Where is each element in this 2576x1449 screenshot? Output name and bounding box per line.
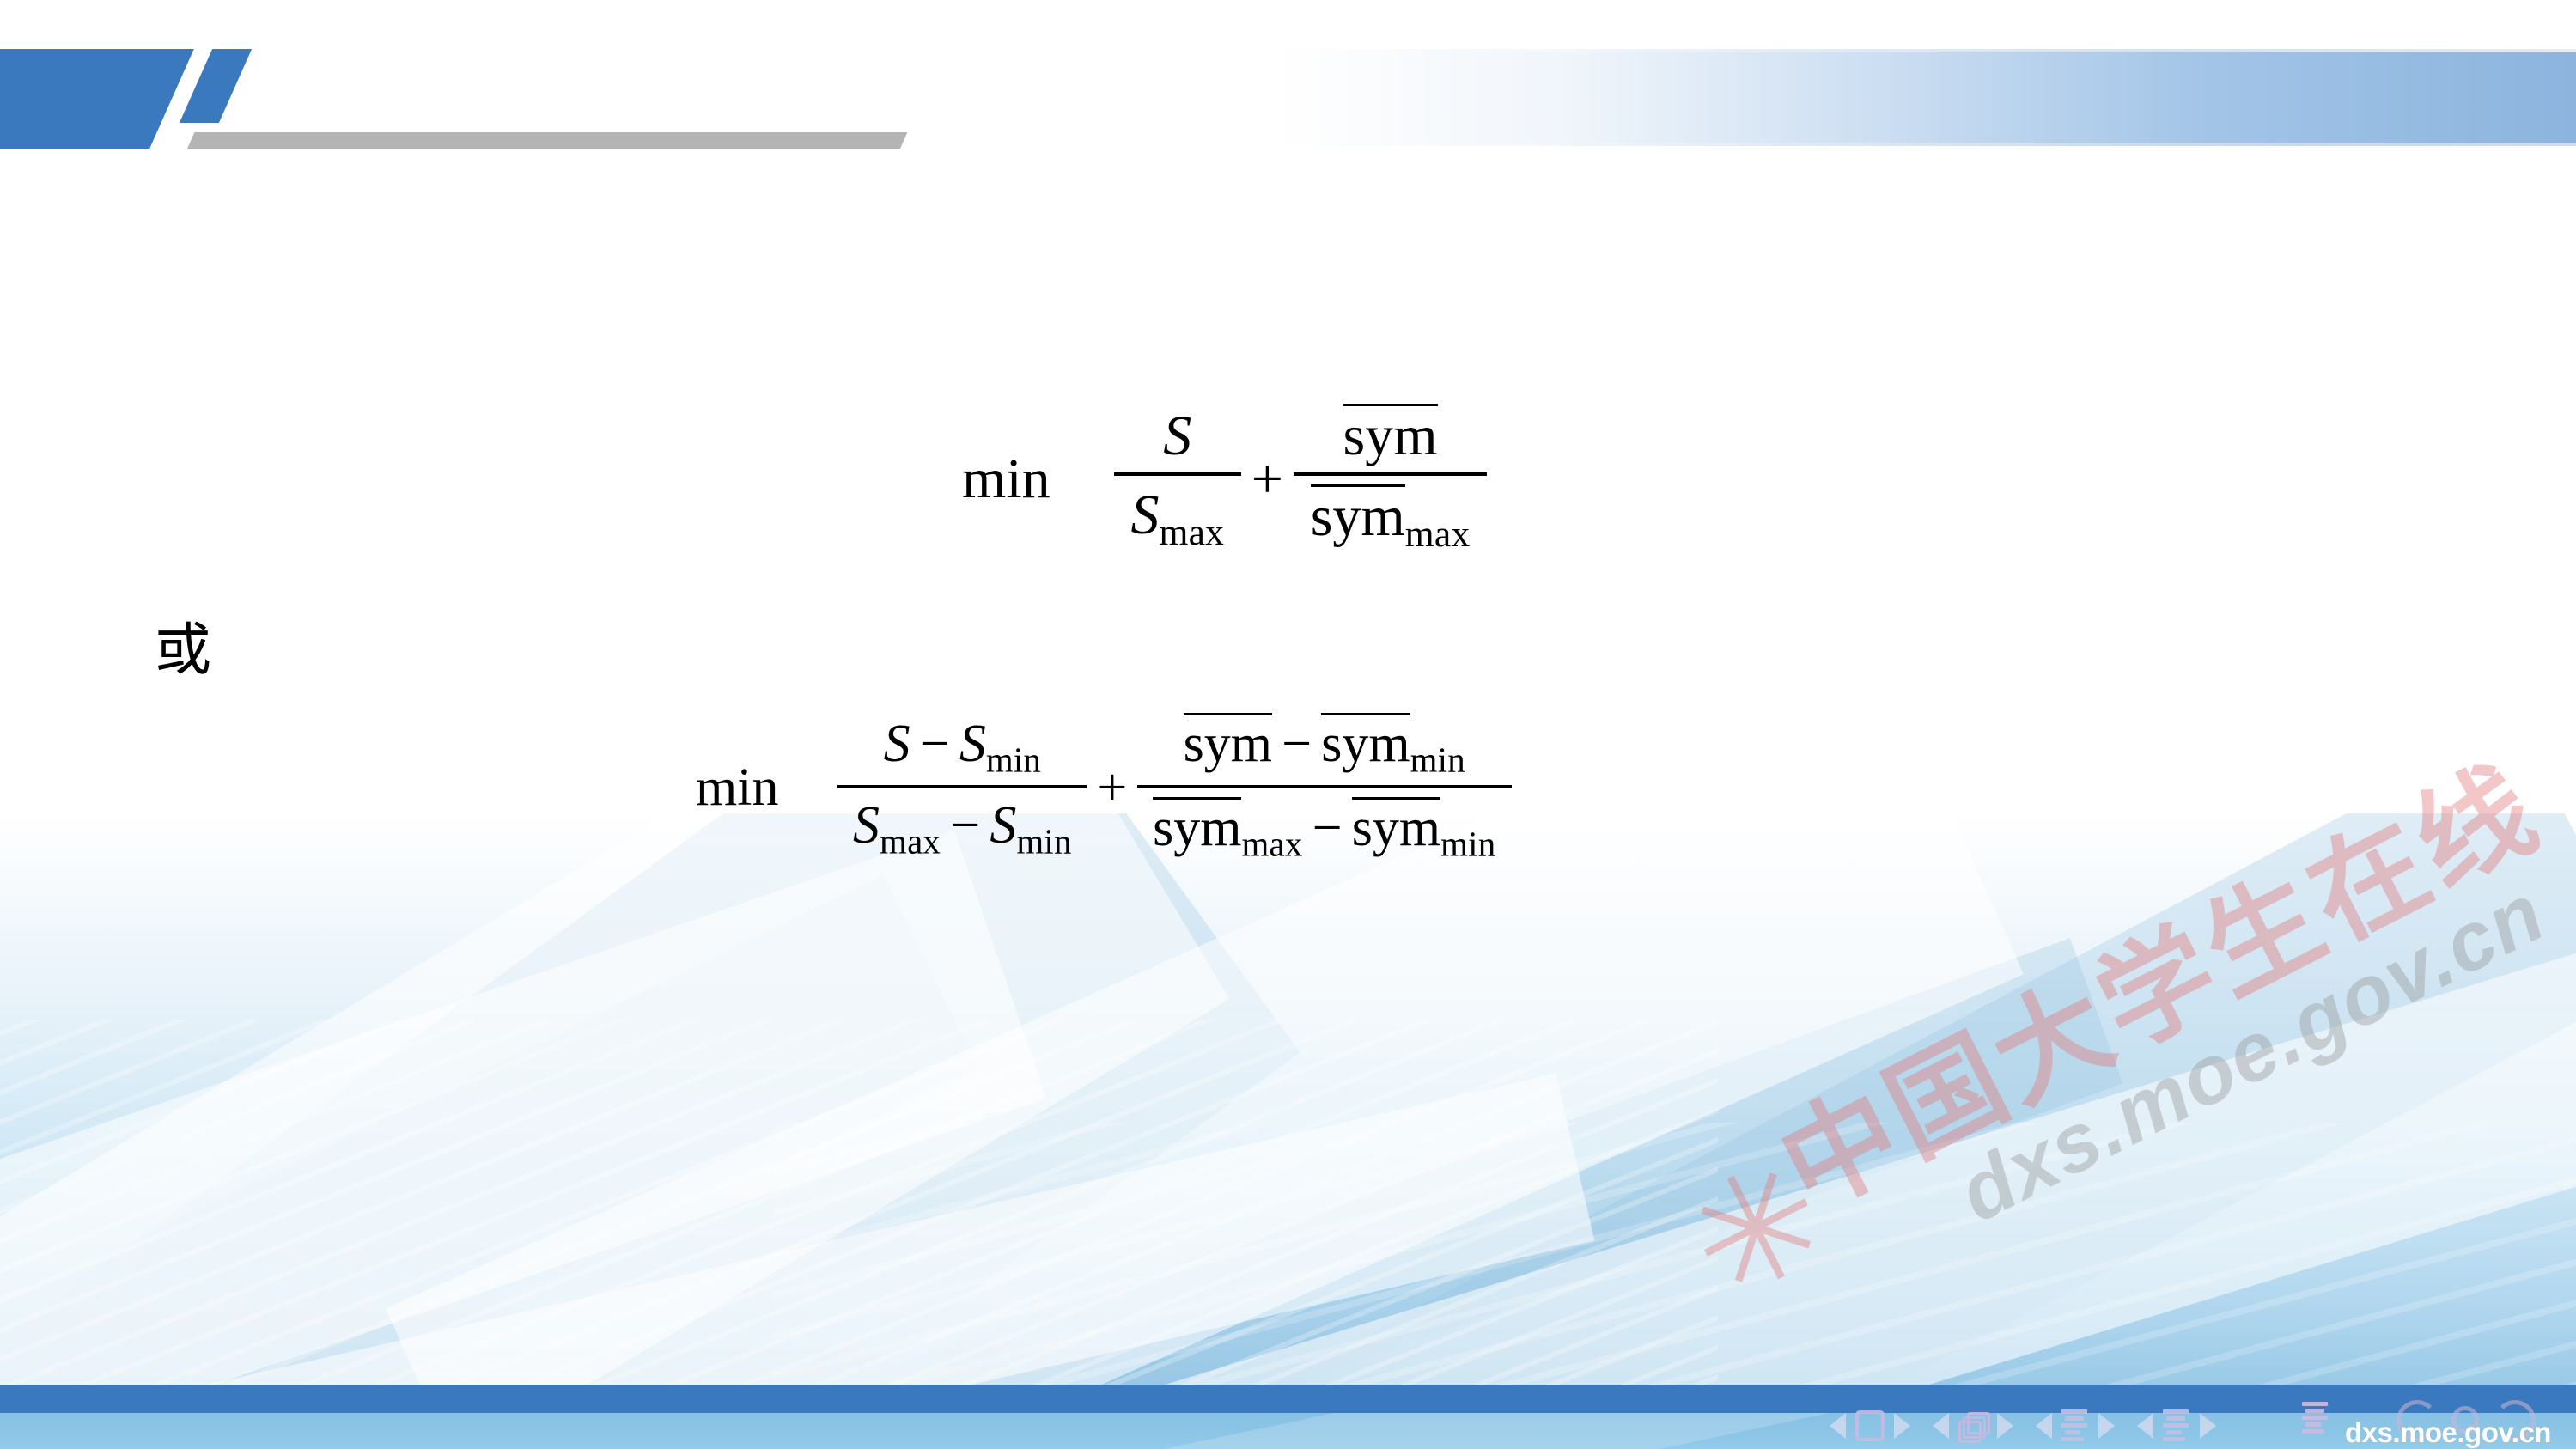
- formula1-term-a-numerator: S: [1114, 405, 1241, 472]
- formula1-plus-operator: +: [1241, 447, 1294, 512]
- subscript-min: min: [1410, 740, 1465, 779]
- prev-notes-icon[interactable]: [2137, 1413, 2153, 1439]
- outline-list-icon[interactable]: [2061, 1409, 2089, 1441]
- formula1-term-b-denominator: symmax: [1294, 472, 1487, 556]
- brand-url-label: dxs.moe.gov.cn: [2345, 1416, 2551, 1449]
- formula2-min-operator: min: [696, 758, 778, 819]
- overline-sym: sym: [1184, 713, 1272, 770]
- formula1-term-a-denominator: Smax: [1114, 472, 1241, 554]
- next-slide-icon[interactable]: [1894, 1413, 1910, 1439]
- prev-outline-icon[interactable]: [2036, 1413, 2052, 1439]
- formula2-plus-operator: +: [1087, 758, 1136, 819]
- subscript-min: min: [986, 740, 1041, 779]
- formula1-term-b: sym symmax: [1294, 404, 1487, 556]
- watermark-star-icon: ✳: [1665, 1133, 1850, 1330]
- minus-operator: −: [910, 715, 959, 773]
- subscript-min: min: [1440, 825, 1495, 863]
- stacked-slides-icon[interactable]: [1958, 1412, 1988, 1440]
- next-stack-icon[interactable]: [1997, 1413, 2013, 1439]
- formula2-term-a-numerator: S−Smin: [837, 715, 1087, 785]
- nav-extra-group[interactable]: [2302, 1402, 2329, 1434]
- minus-operator: −: [1303, 799, 1352, 857]
- connector-label-or: 或: [155, 623, 211, 679]
- thumbnail-list-icon[interactable]: [2302, 1402, 2329, 1434]
- next-outline-icon[interactable]: [2098, 1413, 2115, 1439]
- slide-frame-icon[interactable]: [1855, 1410, 1885, 1441]
- formula2-term-b-numerator: sym−symmin: [1137, 713, 1513, 785]
- formula2-term-a-denominator: Smax−Smin: [837, 785, 1087, 861]
- watermark-url-text: dxs.moe.gov.cn: [1945, 865, 2561, 1241]
- var-S: S: [990, 796, 1016, 855]
- subscript-max: max: [880, 822, 941, 861]
- overline-sym: sym: [1343, 404, 1438, 465]
- overline-sym: sym: [1311, 484, 1405, 545]
- nav-group-stack[interactable]: [1933, 1412, 2013, 1440]
- notes-list-icon[interactable]: [2163, 1409, 2190, 1441]
- watermark: ✳ 中国大学生在线 dxs.moe.gov.cn: [1634, 686, 2576, 1449]
- var-S: S: [853, 796, 880, 855]
- nav-group-outline[interactable]: [2036, 1409, 2115, 1441]
- formula-objective-normalized: min S Smax + sym symmax: [962, 404, 1487, 556]
- subscript-min: min: [1016, 822, 1071, 861]
- formula2-term-b: sym−symmin symmax−symmin: [1137, 713, 1513, 863]
- bottom-band-sheen: [946, 1413, 1976, 1449]
- watermark-chinese-text: 中国大学生在线: [1749, 718, 2562, 1241]
- slide-canvas: min S Smax + sym symmax 或: [0, 0, 2576, 1449]
- minus-operator: −: [1272, 715, 1321, 773]
- slide-body: min S Smax + sym symmax 或: [0, 0, 2576, 1385]
- subscript-max: max: [1241, 825, 1302, 863]
- minus-operator: −: [941, 796, 990, 855]
- formula2-term-a: S−Smin Smax−Smin: [837, 715, 1087, 861]
- subscript-max: max: [1405, 514, 1471, 555]
- overline-sym: sym: [1321, 713, 1410, 770]
- overline-sym: sym: [1352, 797, 1440, 855]
- overline-sym: sym: [1153, 797, 1241, 855]
- prev-stack-icon[interactable]: [1933, 1413, 1949, 1439]
- var-S: S: [1163, 405, 1191, 467]
- formula-objective-minmax-normalized: min S−Smin Smax−Smin + sym−symmin symmax…: [696, 713, 1512, 863]
- var-S: S: [884, 715, 910, 773]
- formula2-term-b-denominator: symmax−symmin: [1137, 785, 1513, 863]
- prev-slide-icon[interactable]: [1830, 1413, 1846, 1439]
- formula1-min-operator: min: [962, 447, 1050, 512]
- var-S: S: [1130, 484, 1159, 546]
- nav-group-slide[interactable]: [1830, 1410, 1910, 1441]
- slide-navigation-toolbar[interactable]: [1830, 1402, 2362, 1449]
- var-S: S: [959, 715, 986, 773]
- formula1-term-b-numerator: sym: [1294, 404, 1487, 472]
- next-notes-icon[interactable]: [2200, 1413, 2216, 1439]
- nav-group-notes[interactable]: [2137, 1409, 2216, 1441]
- formula1-term-a: S Smax: [1114, 405, 1241, 554]
- subscript-max: max: [1159, 512, 1224, 553]
